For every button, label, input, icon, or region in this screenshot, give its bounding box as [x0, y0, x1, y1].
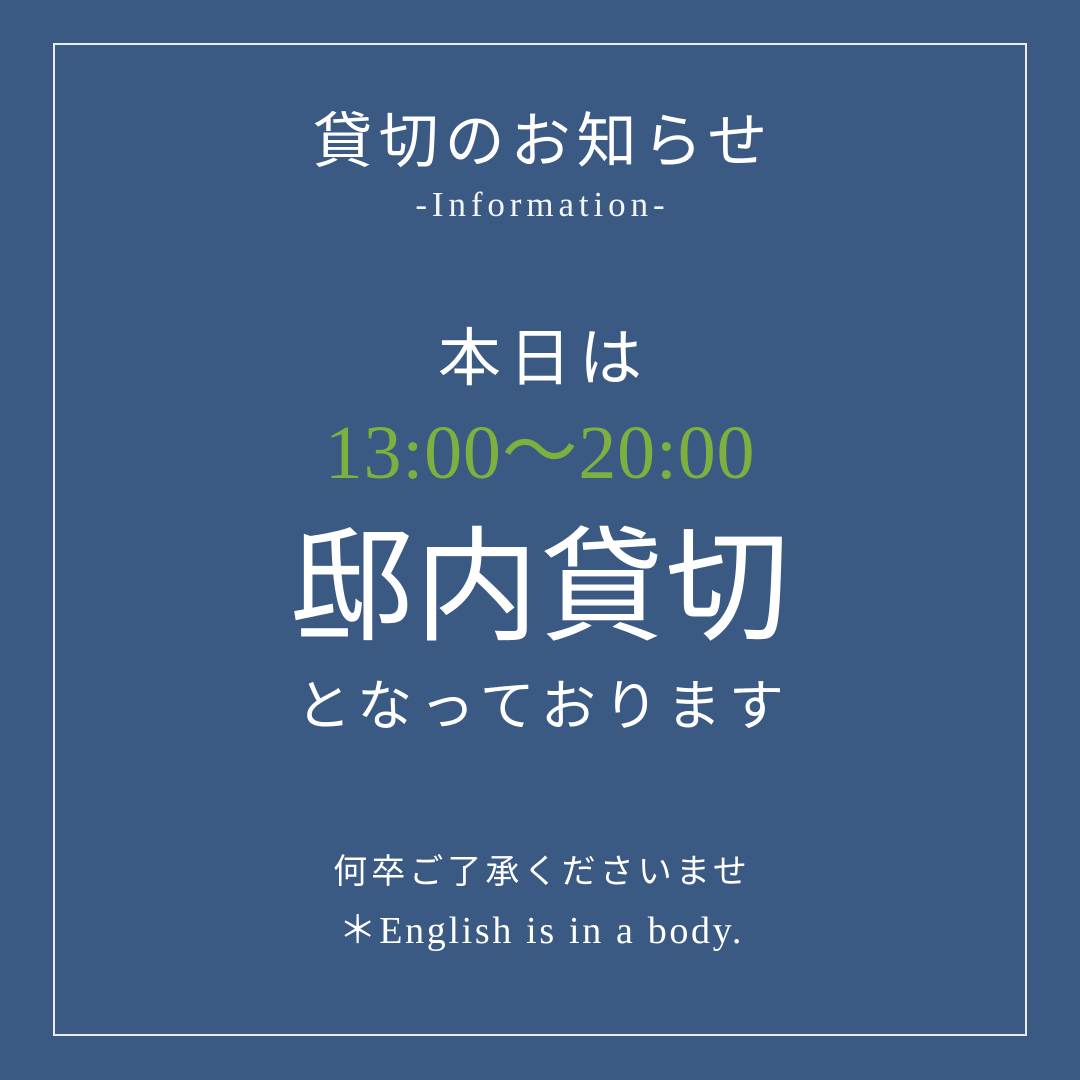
heading-block: 貸切のお知らせ -Information- [0, 108, 1080, 226]
footnote-english: ＊English is in a body. [0, 912, 1080, 950]
message-block: 本日は 13:00〜20:00 邸内貸切 となっております [0, 328, 1080, 734]
footnote-japanese: 何卒ご了承くださいませ [0, 856, 1080, 890]
headline-private-booking: 邸内貸切 [0, 527, 1080, 651]
page-subtitle: -Information- [0, 184, 1080, 226]
footnote-block: 何卒ご了承くださいませ ＊English is in a body. [0, 856, 1080, 950]
announcement-poster: 貸切のお知らせ -Information- 本日は 13:00〜20:00 邸内… [0, 0, 1080, 1080]
business-hours-value: 13:00〜20:00 [0, 415, 1080, 491]
headline-suffix: となっております [0, 679, 1080, 734]
page-title: 貸切のお知らせ [0, 108, 1080, 178]
today-label: 本日は [0, 328, 1080, 391]
poster-content: 貸切のお知らせ -Information- 本日は 13:00〜20:00 邸内… [0, 0, 1080, 1080]
